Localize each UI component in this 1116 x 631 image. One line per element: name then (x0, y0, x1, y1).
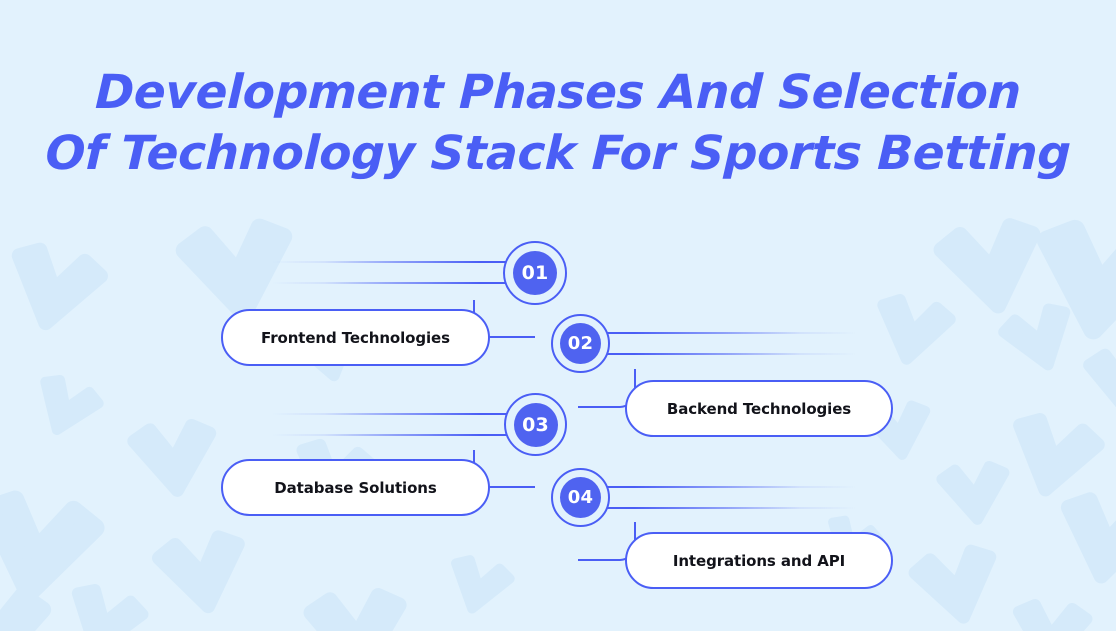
step-04-card[interactable]: Integrations and API (625, 532, 893, 589)
step-04-badge[interactable]: 04 (551, 468, 610, 527)
step-03-label: Database Solutions (274, 479, 436, 497)
step-02-line-bottom (604, 353, 856, 355)
page-title-line-2: Of Technology Stack For Sports Betting (0, 123, 1116, 184)
step-01-line-bottom (272, 282, 508, 284)
step-04-line-bottom (604, 507, 856, 509)
step-01-badge[interactable]: 01 (503, 241, 567, 305)
step-02-badge[interactable]: 02 (551, 314, 610, 373)
step-03-badge[interactable]: 03 (504, 393, 567, 456)
step-04-label: Integrations and API (673, 552, 845, 570)
step-01-label: Frontend Technologies (261, 329, 450, 347)
step-02-label: Backend Technologies (667, 400, 851, 418)
step-03-line-top (272, 413, 508, 415)
step-01-card[interactable]: Frontend Technologies (221, 309, 490, 366)
step-02-lines (604, 332, 856, 356)
step-04-number: 04 (560, 477, 601, 518)
page-title: Development Phases And Selection Of Tech… (0, 62, 1116, 184)
step-02-card[interactable]: Backend Technologies (625, 380, 893, 437)
step-04-line-top (604, 486, 856, 488)
step-03-number: 03 (514, 403, 558, 447)
step-01-lines (272, 261, 508, 285)
step-03-line-bottom (272, 434, 508, 436)
step-03-lines (272, 413, 508, 437)
step-02-number: 02 (560, 323, 601, 364)
step-02-line-top (604, 332, 856, 334)
step-04-lines (604, 486, 856, 510)
page-title-line-1: Development Phases And Selection (0, 62, 1116, 123)
step-01-number: 01 (513, 251, 557, 295)
infographic-canvas: Development Phases And Selection Of Tech… (0, 0, 1116, 631)
step-03-card[interactable]: Database Solutions (221, 459, 490, 516)
step-01-line-top (272, 261, 508, 263)
